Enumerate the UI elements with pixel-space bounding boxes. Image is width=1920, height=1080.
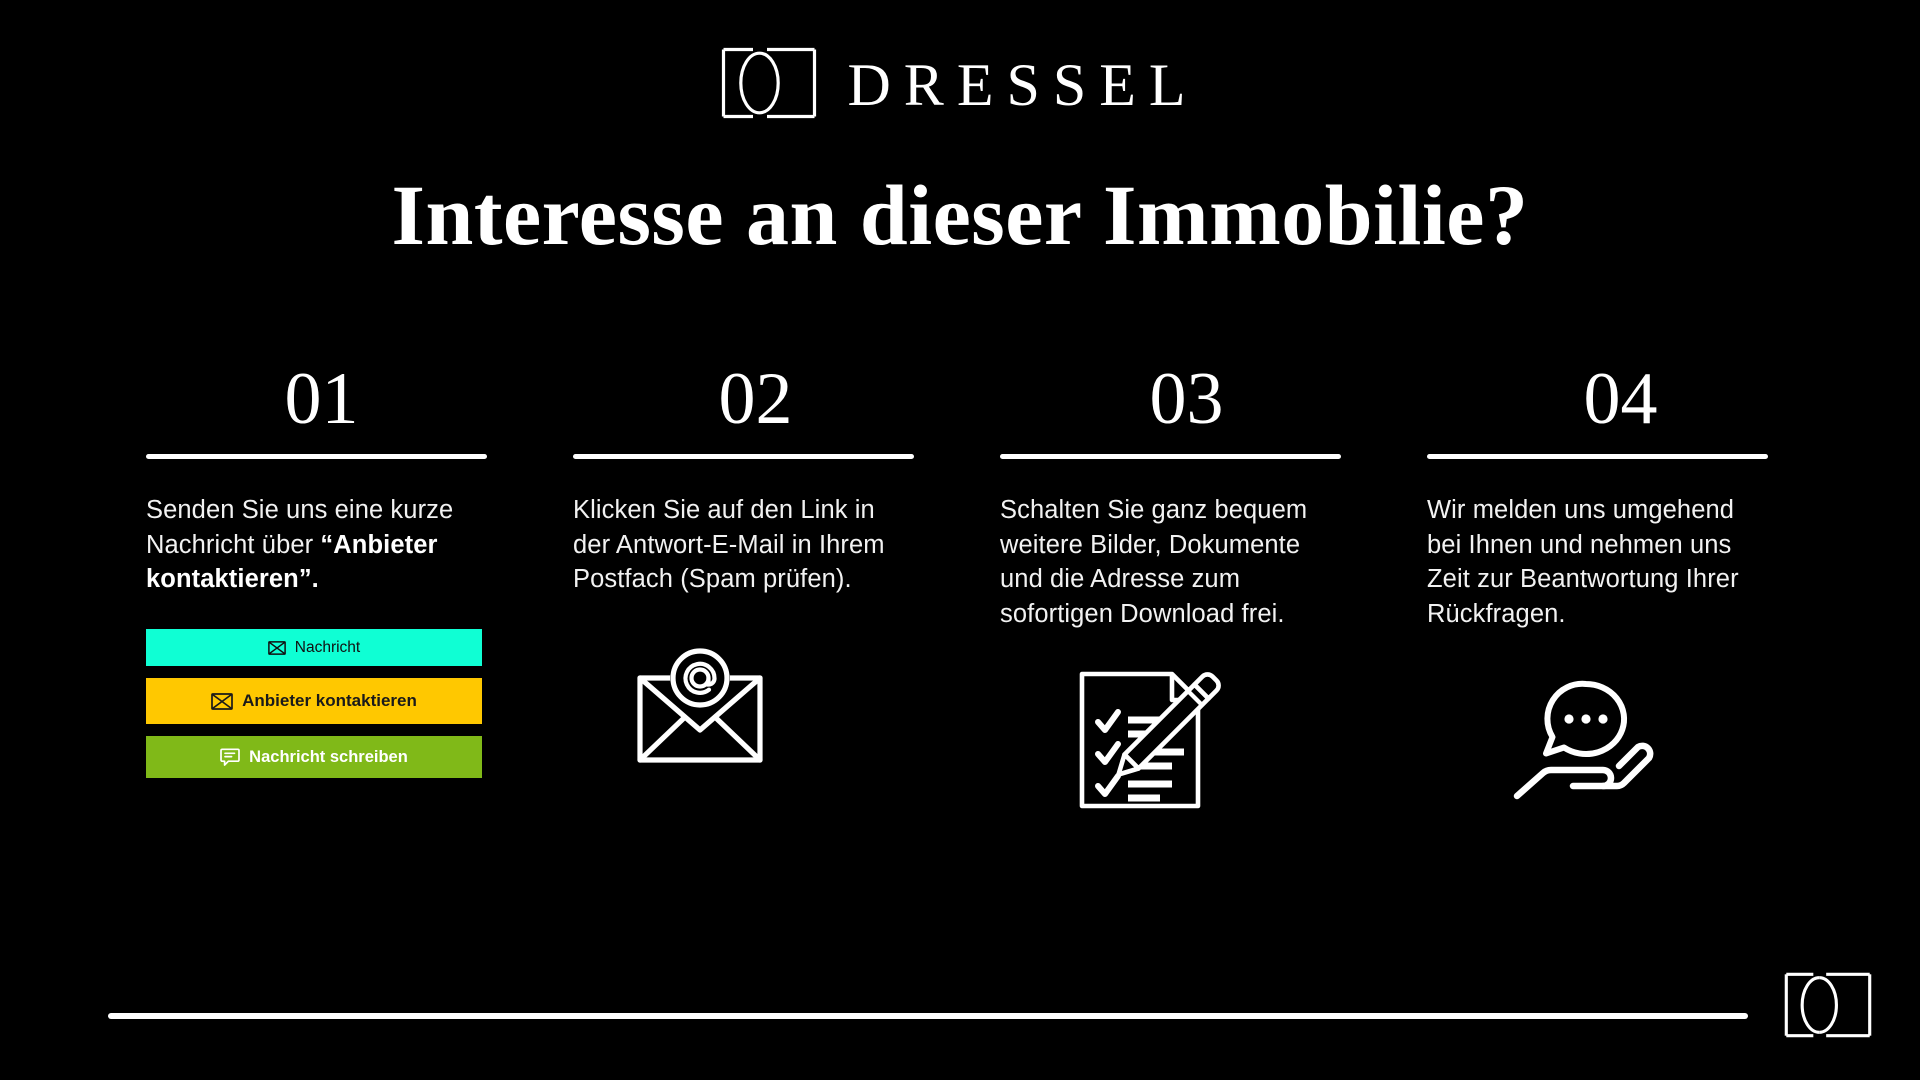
envelope-icon [211, 693, 233, 710]
chat-bubble-on-hand-icon [1511, 678, 1661, 808]
steps-grid: 01 Senden Sie uns eine kurze Nachricht ü… [146, 350, 1778, 818]
step-divider [146, 454, 487, 459]
nachricht-button[interactable]: Nachricht [146, 629, 482, 666]
brand-header: DRESSEL [0, 40, 1920, 130]
step-number: 03 [1000, 350, 1351, 436]
anbieter-kontaktieren-button[interactable]: Anbieter kontaktieren [146, 678, 482, 724]
step-divider [1000, 454, 1341, 459]
step-illustration [1000, 668, 1351, 818]
step-description: Klicken Sie auf den Link in der Antwort-… [573, 493, 919, 597]
brand-wordmark: DRESSEL [841, 55, 1198, 115]
page-title: Interesse an dieser Immobilie? [0, 168, 1920, 263]
envelope-at-sign-icon [635, 647, 765, 770]
step-number: 02 [573, 350, 924, 436]
step-02: 02 Klicken Sie auf den Link in der Antwo… [573, 350, 924, 818]
checklist-document-pencil-icon [1076, 670, 1224, 815]
footer-divider [108, 1013, 1748, 1019]
nachricht-button-label: Nachricht [295, 639, 360, 657]
anbieter-kontaktieren-button-label: Anbieter kontaktieren [242, 691, 417, 711]
step-01: 01 Senden Sie uns eine kurze Nachricht ü… [146, 350, 497, 818]
step-illustration [573, 633, 924, 783]
step-divider [1427, 454, 1768, 459]
envelope-icon [268, 641, 286, 655]
step-description: Senden Sie uns eine kurze Nachricht über… [146, 493, 492, 597]
footer-logo [1784, 972, 1872, 1043]
step-03: 03 Schalten Sie ganz bequem weitere Bild… [1000, 350, 1351, 818]
step-number: 04 [1427, 350, 1778, 436]
nachricht-schreiben-button-label: Nachricht schreiben [249, 748, 408, 767]
dressel-monogram-icon [721, 47, 817, 124]
step-illustration [1427, 668, 1778, 818]
action-button-stack: Nachricht Anbieter kontaktieren [146, 629, 482, 778]
step-number: 01 [146, 350, 497, 436]
step-description: Wir melden uns umgehend bei Ihnen und ne… [1427, 493, 1773, 632]
step-description: Schalten Sie ganz bequem weitere Bilder,… [1000, 493, 1346, 632]
step-04: 04 Wir melden uns umgehend bei Ihnen und… [1427, 350, 1778, 818]
dressel-monogram-icon [1784, 1025, 1872, 1042]
step-divider [573, 454, 914, 459]
slide-root: { "brand": { "wordmark": "DRESSEL", "log… [0, 0, 1920, 1080]
nachricht-schreiben-button[interactable]: Nachricht schreiben [146, 736, 482, 778]
chat-lines-icon [220, 748, 240, 767]
